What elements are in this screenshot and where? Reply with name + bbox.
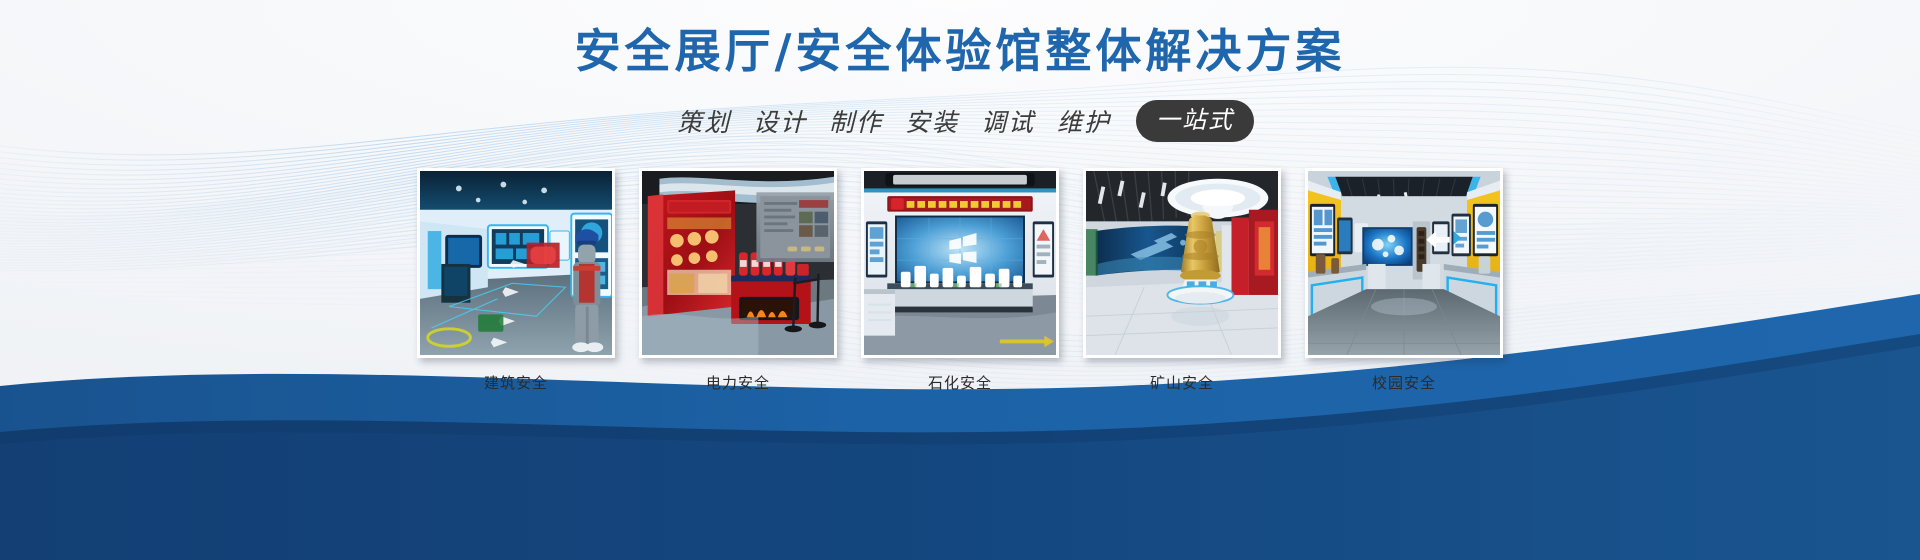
gallery-card-caption: 电力安全 [706,372,770,393]
service-step: 安装 [894,103,970,139]
gallery-card[interactable]: 校园安全 [1305,168,1503,393]
service-steps: 策划设计制作安装调试维护一站式 [666,100,1254,142]
gallery-card[interactable]: 矿山安全 [1083,168,1281,393]
gallery-card-caption: 矿山安全 [1150,372,1214,393]
service-step: 调试 [970,103,1046,139]
construction-safety-hall-thumbnail[interactable] [417,168,615,358]
service-step: 维护 [1046,103,1122,139]
gallery-card[interactable]: 电力安全 [639,168,837,393]
service-step: 设计 [742,103,818,139]
electrical-safety-hall-thumbnail[interactable] [639,168,837,358]
one-stop-badge: 一站式 [1136,100,1254,142]
page-title: 安全展厅/安全体验馆整体解决方案 [575,24,1346,78]
petrochemical-safety-hall-thumbnail[interactable] [861,168,1059,358]
gallery-card[interactable]: 建筑安全 [417,168,615,393]
mine-safety-hall-thumbnail[interactable] [1083,168,1281,358]
service-step: 制作 [818,103,894,139]
thumbnail-gallery: 建筑安全 [417,168,1503,393]
gallery-card-caption: 石化安全 [928,372,992,393]
campus-safety-hall-thumbnail[interactable] [1305,168,1503,358]
gallery-card[interactable]: 石化安全 [861,168,1059,393]
safety-exhibition-banner: 安全展厅/安全体验馆整体解决方案 策划设计制作安装调试维护一站式 [0,0,1920,560]
service-step: 策划 [666,103,742,139]
gallery-card-caption: 建筑安全 [484,372,548,393]
gallery-card-caption: 校园安全 [1372,372,1436,393]
